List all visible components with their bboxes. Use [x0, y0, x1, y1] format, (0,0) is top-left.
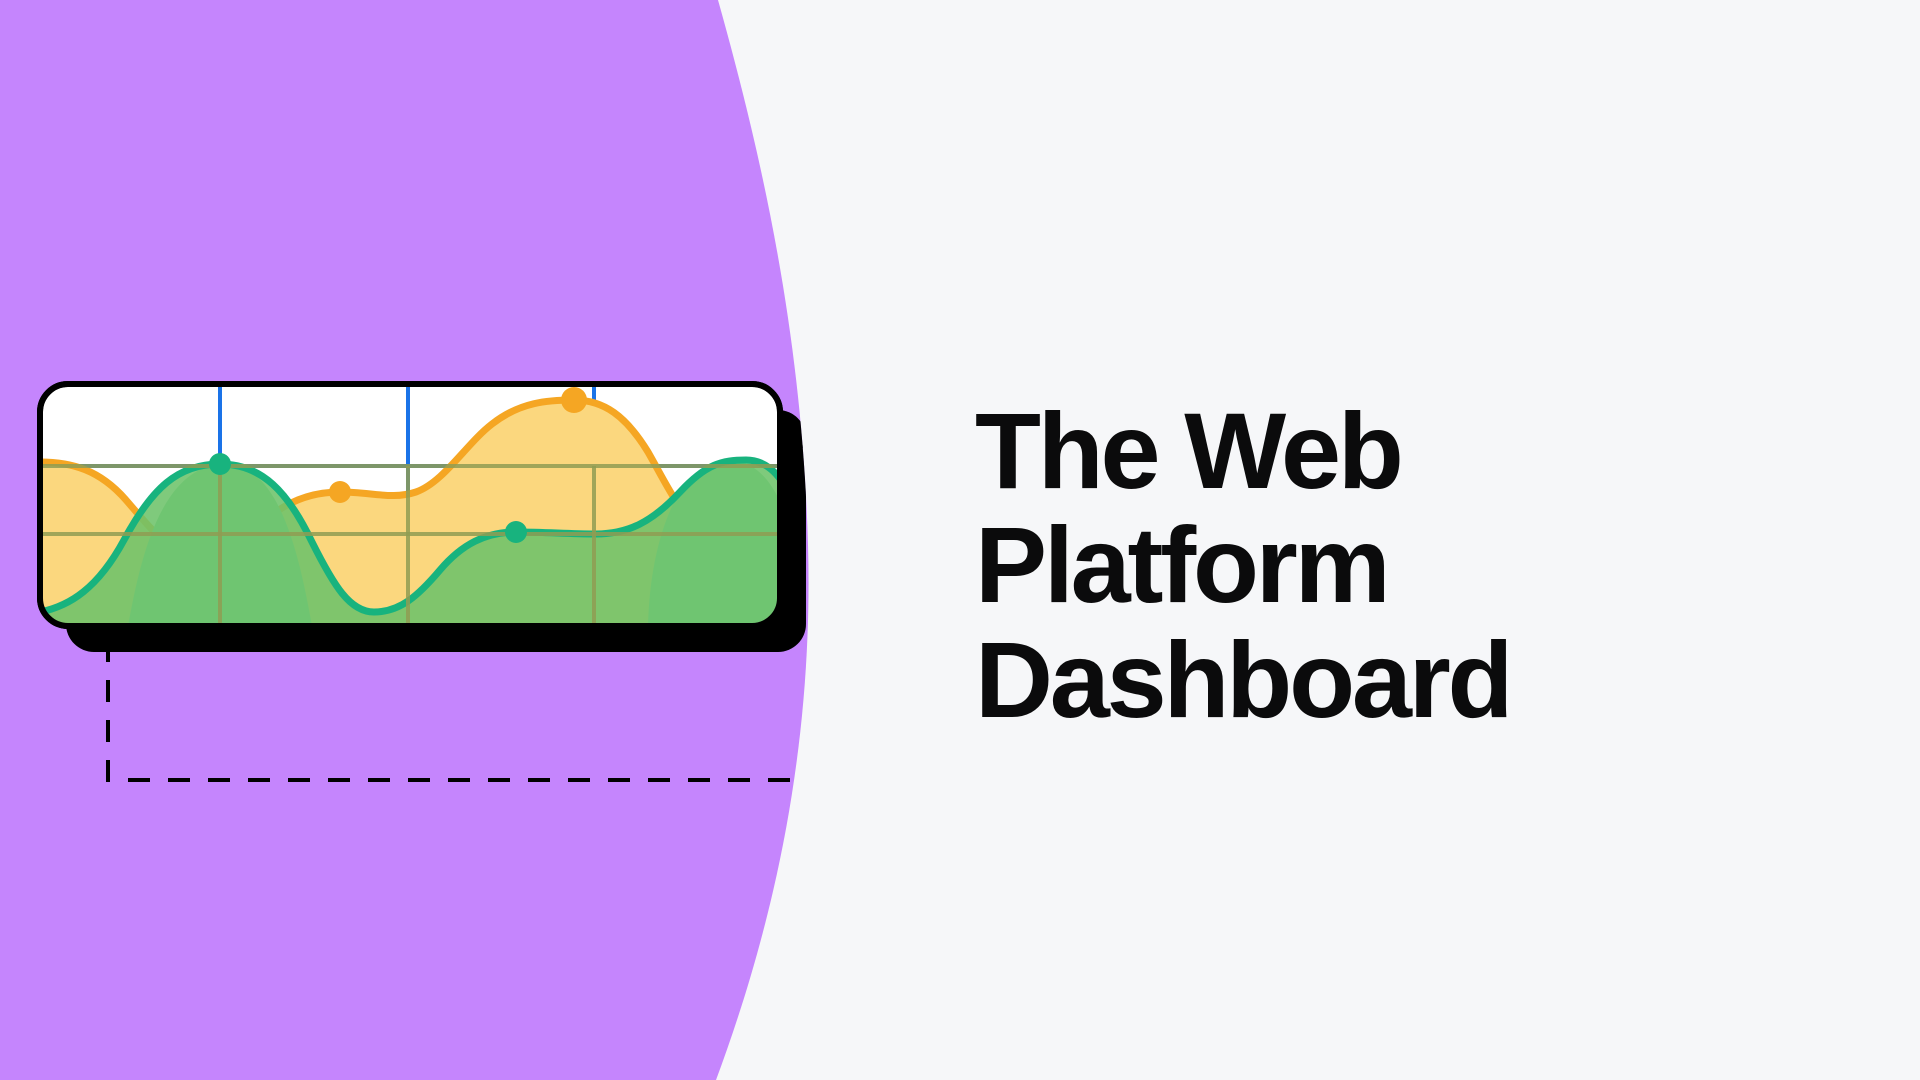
page-title: The Web Platform Dashboard — [975, 394, 1735, 737]
hero-page: The Web Platform Dashboard — [0, 0, 1920, 1080]
